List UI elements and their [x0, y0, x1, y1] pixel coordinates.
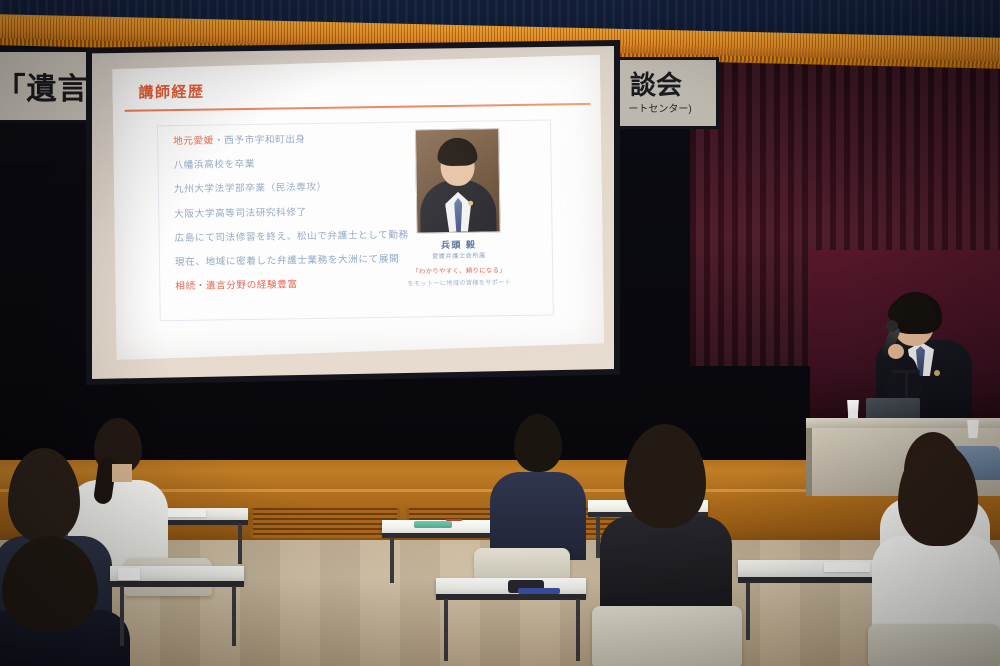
audience-head	[624, 424, 706, 528]
audience-chair	[592, 606, 742, 666]
paper-sheet	[824, 562, 870, 572]
wall-banner-left: 「遺言	[0, 52, 94, 120]
audience-neck	[112, 464, 132, 482]
wall-banner-right-subtitle: ートセンター)	[628, 100, 691, 115]
presenter-lapel-badge	[934, 370, 940, 376]
table-leg	[232, 586, 236, 646]
audience-head	[2, 536, 98, 632]
audience-person	[0, 536, 130, 666]
bullet-highlight: 地元愛媛	[173, 135, 214, 147]
audience-chair	[868, 624, 1000, 666]
banner-left-shadow	[0, 118, 98, 162]
audience-head	[514, 414, 562, 472]
portrait-lapel-badge	[468, 201, 473, 206]
bullet-rest: 八幡浜高校を卒業	[173, 159, 255, 171]
lecture-hall-scene: 「遺言 談会 ートセンター) 講師経歴 地元愛媛・西予市宇和町出身 八幡浜高校を…	[0, 0, 1000, 666]
slide-content: 講師経歴 地元愛媛・西予市宇和町出身 八幡浜高校を卒業 九州大学法学部卒業（民法…	[112, 55, 604, 360]
audience-head	[898, 442, 978, 546]
table-leg	[390, 537, 394, 583]
slide-title-rule	[125, 103, 591, 111]
table-leg	[444, 599, 448, 661]
presentation-slide: 講師経歴 地元愛媛・西予市宇和町出身 八幡浜高校を卒業 九州大学法学部卒業（民法…	[112, 55, 604, 360]
table-leg	[576, 599, 580, 661]
lecturer-affiliation: 愛媛弁護士会所属	[407, 250, 511, 261]
wall-banner-right-title: 談会	[630, 72, 682, 98]
table-edge	[110, 581, 244, 587]
lecturer-motto: 「わかりやすく、頼りになる」	[401, 265, 517, 276]
bullet-rest: 大阪大学高等司法研究科修了	[174, 207, 307, 220]
table-leg	[120, 586, 124, 646]
wall-banner-right: 談会 ートセンター)	[612, 60, 716, 126]
pen	[446, 519, 462, 521]
lecturer-motto-line2: をモットーに地域の皆様をサポート	[397, 277, 521, 288]
table-leg	[746, 582, 750, 640]
table-edge	[436, 594, 586, 600]
audience-head	[8, 448, 80, 542]
table-leg	[238, 524, 242, 564]
notebook	[414, 521, 452, 528]
microphone-head-icon	[886, 320, 898, 332]
bullet-rest: 九州大学法学部卒業（民法専攻）	[174, 182, 327, 195]
bullet-highlight: 相続・遺言分野の経験豊富	[175, 279, 297, 292]
notebook-secondary	[518, 588, 560, 594]
stage-vent	[250, 508, 400, 538]
wall-banner-left-text: 「遺言	[0, 64, 89, 108]
bullet-rest: 広島にて司法修習を終え、松山で弁護士として勤務	[175, 229, 409, 243]
slide-title: 講師経歴	[138, 81, 204, 103]
paper-sheet	[118, 568, 140, 580]
bullet-rest: 現在、地域に密着した弁護士業務を大洲にて展開	[175, 254, 399, 268]
audience-person	[490, 414, 586, 548]
audience-torso	[490, 472, 586, 560]
presenter-hand	[888, 344, 904, 359]
lecturer-portrait-photo	[415, 128, 501, 233]
bullet-rest: ・西予市宇和町出身	[214, 134, 306, 146]
lecturer-name: 兵頭 毅	[417, 237, 501, 251]
